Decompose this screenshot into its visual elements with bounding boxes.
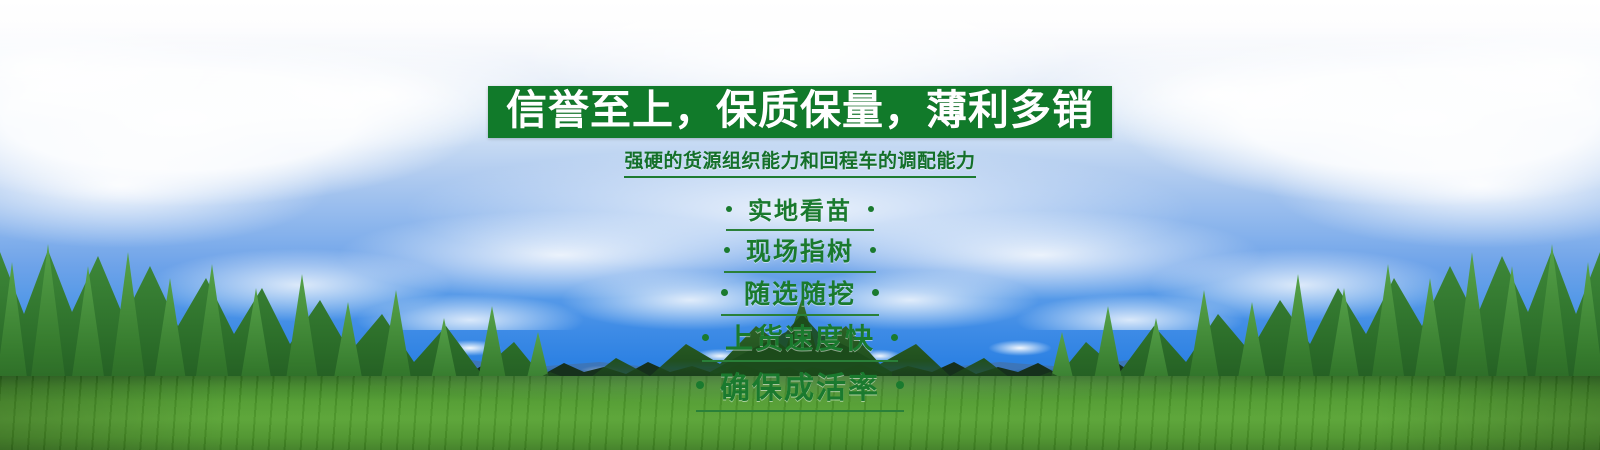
feature-item-2: 现场指树: [724, 231, 876, 273]
bullet-dot-icon: [868, 206, 874, 212]
headline-text: 信誉至上，保质保量，薄利多销: [506, 89, 1094, 131]
subtitle-text: 强硬的货源组织能力和回程车的调配能力: [624, 146, 975, 178]
banner-content: 信誉至上，保质保量，薄利多销 强硬的货源组织能力和回程车的调配能力 实地看苗 现…: [0, 0, 1600, 412]
feature-item-5: 确保成活率: [696, 362, 904, 412]
bullet-dot-icon: [724, 247, 730, 253]
feature-item-4: 上货速度快: [702, 316, 898, 362]
bullet-dot-icon: [702, 334, 709, 341]
bullet-dot-icon: [870, 247, 876, 253]
feature-item-3: 随选随挖: [721, 273, 879, 316]
promo-banner: 信誉至上，保质保量，薄利多销 强硬的货源组织能力和回程车的调配能力 实地看苗 现…: [0, 0, 1600, 450]
feature-item-1: 实地看苗: [726, 190, 874, 231]
headline-bar: 信誉至上，保质保量，薄利多销: [488, 86, 1112, 138]
feature-label: 随选随挖: [744, 274, 856, 311]
feature-list: 实地看苗 现场指树 随选随挖 上货速度快 确保成活率: [696, 190, 904, 412]
feature-label: 实地看苗: [748, 191, 852, 226]
bullet-dot-icon: [696, 381, 704, 389]
feature-label: 确保成活率: [720, 363, 880, 407]
bullet-dot-icon: [891, 334, 898, 341]
bullet-dot-icon: [872, 289, 879, 296]
feature-label: 上货速度快: [725, 317, 875, 357]
bullet-dot-icon: [896, 381, 904, 389]
feature-label: 现场指树: [746, 232, 854, 268]
bullet-dot-icon: [726, 206, 732, 212]
bullet-dot-icon: [721, 289, 728, 296]
